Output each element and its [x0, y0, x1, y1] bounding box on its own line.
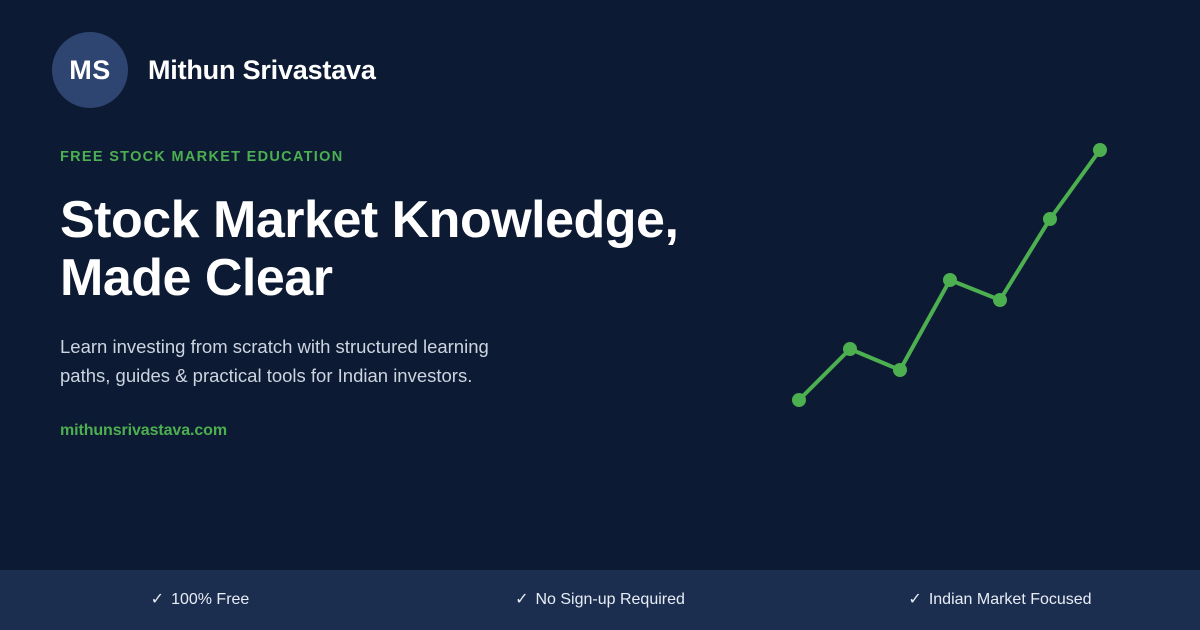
- footer-item-label: 100% Free: [171, 591, 249, 609]
- chart-point-2: [843, 342, 857, 356]
- chart-point-3: [893, 363, 907, 377]
- footer-item-indian-market: ✓ Indian Market Focused: [800, 591, 1200, 609]
- site-url-link[interactable]: mithunsrivastava.com: [60, 422, 720, 440]
- footer-item-free: ✓ 100% Free: [0, 591, 400, 609]
- hero-copy: FREE STOCK MARKET EDUCATION Stock Market…: [60, 150, 720, 440]
- headline-line-1: Stock Market Knowledge,: [60, 191, 720, 249]
- social-card: MS Mithun Srivastava FREE STOCK MARKET E…: [0, 0, 1200, 630]
- footer-item-label: Indian Market Focused: [929, 591, 1092, 609]
- subtitle-line-2: paths, guides & practical tools for Indi…: [60, 362, 720, 391]
- avatar-initials: MS: [69, 57, 111, 84]
- check-icon: ✓: [151, 592, 164, 608]
- chart-point-4: [943, 273, 957, 287]
- page-title: Stock Market Knowledge, Made Clear: [60, 191, 720, 307]
- check-icon: ✓: [515, 592, 528, 608]
- subtitle-line-1: Learn investing from scratch with struct…: [60, 333, 720, 362]
- chart-line: [799, 150, 1100, 400]
- footer-item-label: No Sign-up Required: [535, 591, 684, 609]
- avatar: MS: [52, 32, 128, 108]
- footer-bar: ✓ 100% Free ✓ No Sign-up Required ✓ Indi…: [0, 570, 1200, 630]
- subtitle: Learn investing from scratch with struct…: [60, 333, 720, 390]
- chart-point-5: [993, 293, 1007, 307]
- chart-point-1: [792, 393, 806, 407]
- headline-line-2: Made Clear: [60, 249, 720, 307]
- chart-markers: [792, 143, 1107, 407]
- chart-point-6: [1043, 212, 1057, 226]
- eyebrow-label: FREE STOCK MARKET EDUCATION: [60, 150, 720, 165]
- brand-header: MS Mithun Srivastava: [52, 32, 376, 108]
- check-icon: ✓: [908, 592, 921, 608]
- brand-name: Mithun Srivastava: [148, 55, 376, 86]
- footer-item-no-signup: ✓ No Sign-up Required: [400, 591, 800, 609]
- chart-point-7: [1093, 143, 1107, 157]
